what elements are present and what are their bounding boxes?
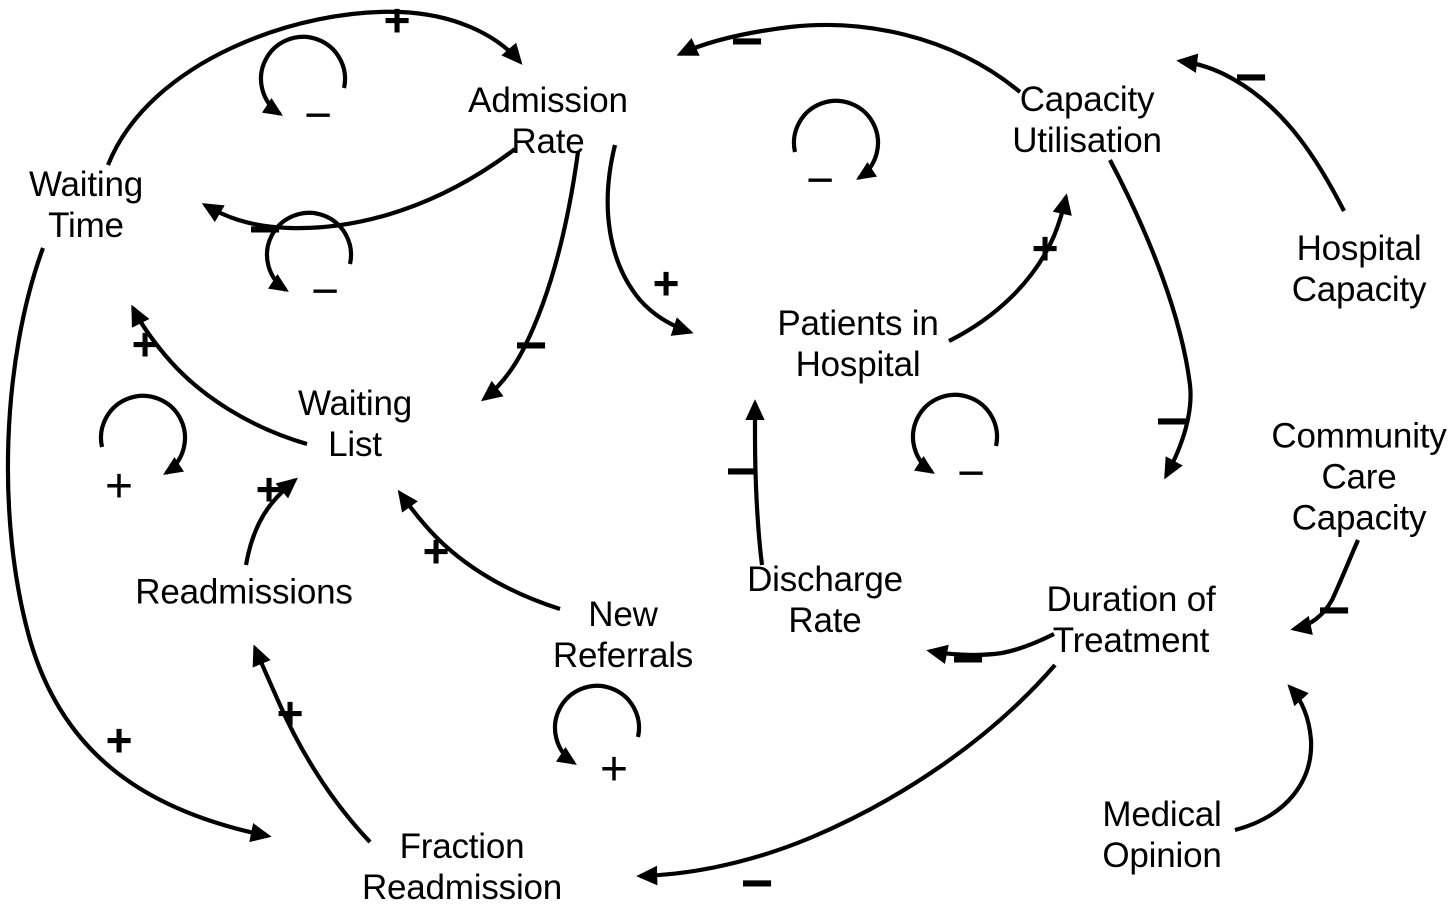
link-duration-of-treatment-to-discharge-rate bbox=[930, 634, 1054, 655]
loop-sign-capacity-balancing: − bbox=[806, 157, 834, 205]
node-waiting-time[interactable]: Waiting Time bbox=[29, 164, 143, 246]
node-discharge-rate[interactable]: Discharge Rate bbox=[747, 559, 903, 641]
node-fraction-readmission[interactable]: Fraction Readmission bbox=[362, 826, 562, 904]
node-admission-rate[interactable]: Admission Rate bbox=[468, 80, 628, 162]
link-medical-opinion-to-duration-of-treatment bbox=[1235, 687, 1311, 830]
link-sign-waiting-list-to-waiting-time: + bbox=[132, 321, 159, 367]
link-sign-hospital-capacity-to-capacity-utilisation: − bbox=[1235, 49, 1268, 105]
link-sign-capacity-utilisation-to-admission-rate: − bbox=[731, 13, 764, 69]
node-duration-of-treatment[interactable]: Duration of Treatment bbox=[1046, 579, 1215, 661]
link-sign-community-care-capacity-to-duration-of-treatment: − bbox=[1318, 582, 1351, 638]
node-medical-opinion[interactable]: Medical Opinion bbox=[1102, 794, 1221, 876]
link-sign-new-referrals-to-waiting-list: + bbox=[423, 528, 450, 574]
link-waiting-list-to-waiting-time bbox=[133, 308, 307, 444]
node-new-referrals[interactable]: New Referrals bbox=[553, 594, 693, 676]
node-readmissions[interactable]: Readmissions bbox=[135, 572, 352, 613]
loop-sign-discharge-balancing: − bbox=[957, 450, 985, 498]
link-sign-admission-rate-to-waiting-list: − bbox=[515, 317, 548, 373]
link-sign-patients-in-hospital-to-capacity-utilisation: + bbox=[1032, 225, 1059, 271]
link-sign-waiting-time-to-admission-rate: + bbox=[384, 0, 411, 43]
link-sign-capacity-utilisation-to-duration-of-treatment: − bbox=[1156, 393, 1189, 449]
loop-sign-admission-balancing: − bbox=[304, 92, 332, 140]
loop-sign-readmission-reinforcing: + bbox=[105, 463, 133, 511]
link-duration-of-treatment-to-fraction-readmission bbox=[640, 665, 1055, 876]
link-sign-fraction-readmission-to-readmissions: + bbox=[277, 690, 304, 736]
link-sign-admission-rate-to-waiting-time: − bbox=[249, 201, 282, 257]
link-fraction-readmission-to-readmissions bbox=[255, 648, 370, 842]
link-sign-discharge-rate-to-patients-in-hospital: − bbox=[726, 443, 759, 499]
node-capacity-utilisation[interactable]: Capacity Utilisation bbox=[1012, 79, 1162, 161]
loop-sign-waiting-list-balancing: − bbox=[311, 268, 339, 316]
causal-loop-diagram-canvas: Waiting Time Admission Rate Capacity Uti… bbox=[0, 0, 1456, 904]
link-sign-waiting-time-to-fraction-readmission: + bbox=[106, 717, 133, 763]
node-patients-in-hospital[interactable]: Patients in Hospital bbox=[777, 303, 938, 385]
loop-sign-treatment-reinforcing: + bbox=[600, 746, 628, 794]
link-sign-duration-of-treatment-to-discharge-rate: − bbox=[952, 631, 985, 687]
node-waiting-list[interactable]: Waiting List bbox=[298, 383, 412, 465]
node-hospital-capacity[interactable]: Hospital Capacity bbox=[1292, 228, 1427, 310]
link-sign-readmissions-to-waiting-list: + bbox=[256, 466, 283, 512]
node-community-care-capacity[interactable]: Community Care Capacity bbox=[1271, 416, 1446, 539]
link-sign-admission-rate-to-patients-in-hospital: + bbox=[653, 260, 680, 306]
link-sign-duration-of-treatment-to-fraction-readmission: − bbox=[741, 855, 774, 904]
